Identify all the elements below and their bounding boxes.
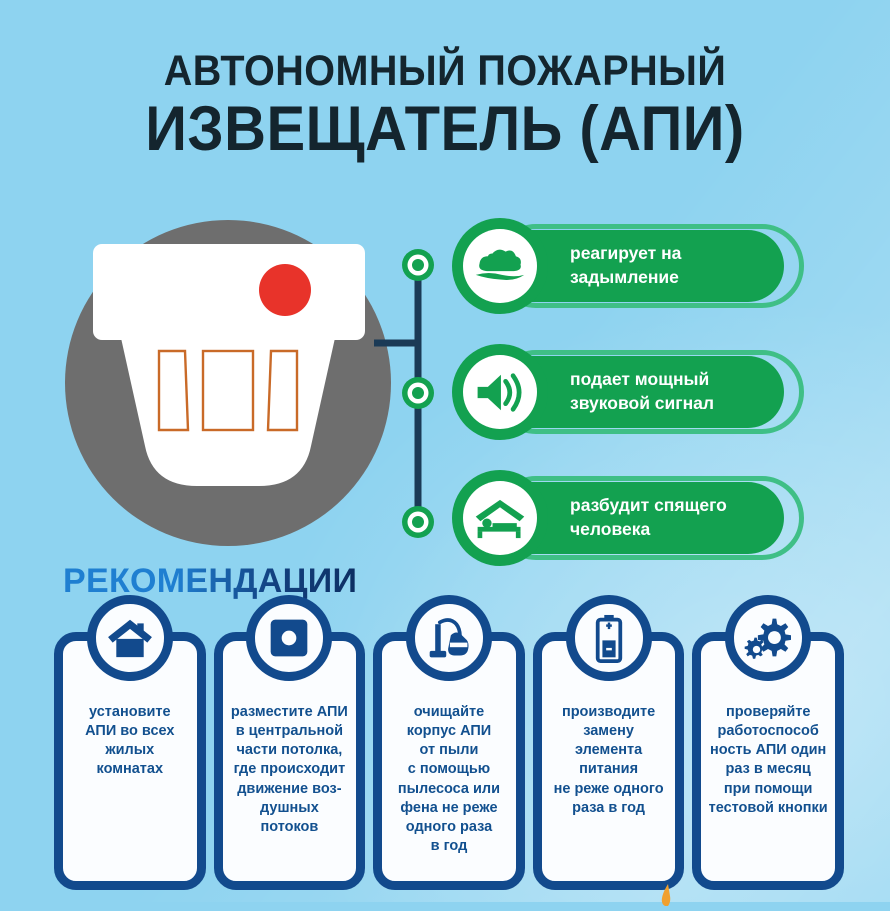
- detector-vent-center: [203, 351, 253, 430]
- recommendation-card-install[interactable]: установите АПИ во всех жилых комнатах: [54, 632, 206, 890]
- recommendation-card-cleaning[interactable]: очищайте корпус АПИ от пыли с помощью пы…: [373, 632, 525, 890]
- house-icon: [87, 595, 173, 681]
- detector-body: [93, 244, 365, 340]
- detector-vent-left: [159, 351, 188, 430]
- feature-line-1: подает мощный: [570, 368, 785, 392]
- feature-pill-sound[interactable]: подает мощный звуковой сигнал: [452, 344, 804, 440]
- smoke-cloud-icon: [452, 218, 548, 314]
- feature-pill-smoke[interactable]: реагирует на задымление: [452, 218, 804, 314]
- feature-pill-text: реагирует на задымление: [570, 231, 785, 301]
- battery-icon: [566, 595, 652, 681]
- recommendation-text: установите АПИ во всех жилых комнатах: [70, 703, 190, 780]
- page-title: АВТОНОМНЫЙ ПОЖАРНЫЙ ИЗВЕЩАТЕЛЬ (АПИ): [0, 50, 890, 161]
- feature-pill-wake[interactable]: разбудит спящего человека: [452, 470, 804, 566]
- recommendation-card-placement[interactable]: разместите АПИ в центральной части потол…: [214, 632, 366, 890]
- recommendation-cards: установите АПИ во всех жилых комнатах ра…: [54, 632, 844, 894]
- feature-line-2: человека: [570, 518, 785, 542]
- recommendation-card-test[interactable]: проверяйте работоспособ ность АПИ один р…: [692, 632, 844, 890]
- speaker-sound-icon: [452, 344, 548, 440]
- detector-led-indicator: [259, 264, 311, 316]
- sleeping-person-icon: [452, 470, 548, 566]
- vacuum-cleaner-icon: [406, 595, 492, 681]
- smoke-detector-illustration: [63, 218, 393, 548]
- ceiling-detector-icon: [246, 595, 332, 681]
- recommendations-heading: РЕКОМЕНДАЦИИ: [63, 562, 357, 601]
- recommendation-text: очищайте корпус АПИ от пыли с помощью пы…: [389, 703, 509, 856]
- recommendation-text: производите замену элемента питания не р…: [549, 703, 669, 818]
- title-line-1: АВТОНОМНЫЙ ПОЖАРНЫЙ: [36, 50, 855, 93]
- feature-pill-text: разбудит спящего человека: [570, 483, 785, 553]
- gears-icon: [725, 595, 811, 681]
- recommendation-text: проверяйте работоспособ ность АПИ один р…: [708, 703, 828, 818]
- connector-marker-1: [402, 249, 434, 281]
- recommendation-text: разместите АПИ в центральной части потол…: [230, 703, 350, 837]
- connector-marker-3: [402, 506, 434, 538]
- feature-line-2: звуковой сигнал: [570, 392, 785, 416]
- detector-vent-right: [268, 351, 297, 430]
- feature-pill-text: подает мощный звуковой сигнал: [570, 357, 785, 427]
- feature-list: реагирует на задымление подает мощный зв…: [452, 218, 890, 566]
- feature-line-1: разбудит спящего: [570, 494, 785, 518]
- title-line-2: ИЗВЕЩАТЕЛЬ (АПИ): [36, 97, 855, 161]
- connector-marker-2: [402, 377, 434, 409]
- feature-line-2: задымление: [570, 266, 785, 290]
- feature-line-1: реагирует на: [570, 242, 785, 266]
- recommendation-card-battery[interactable]: производите замену элемента питания не р…: [533, 632, 685, 890]
- flame-icon: [659, 884, 675, 906]
